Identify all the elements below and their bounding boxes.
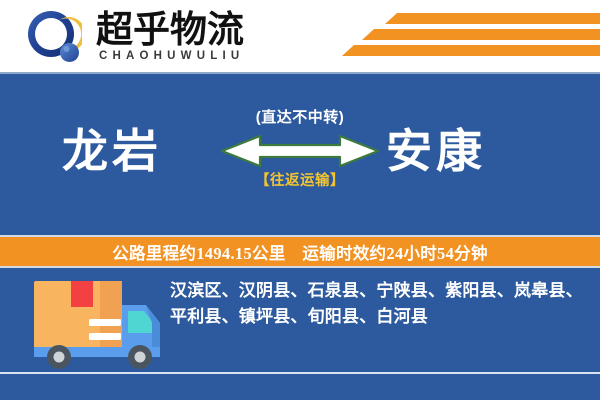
distance-duration-text: 公路里程约1494.15公里 运输时效约24小时54分钟 [112, 240, 488, 264]
header: 超乎物流 CHAOHUWULIU [0, 0, 600, 72]
main-panel: 龙岩 (直达不中转) 【往返运输】 安康 公路里程约1494.15公里 运输时效… [0, 72, 600, 400]
brand-name-cn: 超乎物流 [96, 9, 244, 51]
stripe-3 [342, 45, 600, 56]
brand-name-en: CHAOHUWULIU [99, 50, 244, 62]
origin-city: 龙岩 [62, 126, 162, 178]
coverage-areas-line-2: 平利县、镇坪县、旬阳县、白河县 [170, 304, 588, 330]
coverage-areas: 汉滨区、汉阴县、石泉县、宁陕县、紫阳县、岚皋县、 平利县、镇坪县、旬阳县、白河县 [170, 278, 588, 330]
stripe-2 [362, 29, 600, 40]
return-note: 【往返运输】 [205, 171, 395, 191]
destination-city: 安康 [386, 126, 486, 178]
header-stripes [350, 0, 600, 72]
info-bar: 公路里程约1494.15公里 运输时效约24小时54分钟 [0, 235, 600, 268]
route-middle: (直达不中转) 【往返运输】 [205, 108, 395, 191]
double-headed-arrow-icon [205, 134, 395, 168]
coverage-areas-line-1: 汉滨区、汉阴县、石泉县、宁陕县、紫阳县、岚皋县、 [170, 278, 588, 304]
coverage-row: 汉滨区、汉阴县、石泉县、宁陕县、紫阳县、岚皋县、 平利县、镇坪县、旬阳县、白河县 [0, 272, 600, 372]
delivery-truck-icon [28, 277, 168, 373]
route-row: 龙岩 (直达不中转) 【往返运输】 安康 [0, 72, 600, 232]
stripe-1 [385, 13, 600, 24]
footer-space [0, 374, 600, 400]
direct-note: (直达不中转) [205, 108, 395, 128]
chaohu-circle-logo-icon [26, 9, 82, 65]
logistics-route-banner: 超乎物流 CHAOHUWULIU 龙岩 (直达不中转) 【往返运输】 安康 [0, 0, 600, 400]
